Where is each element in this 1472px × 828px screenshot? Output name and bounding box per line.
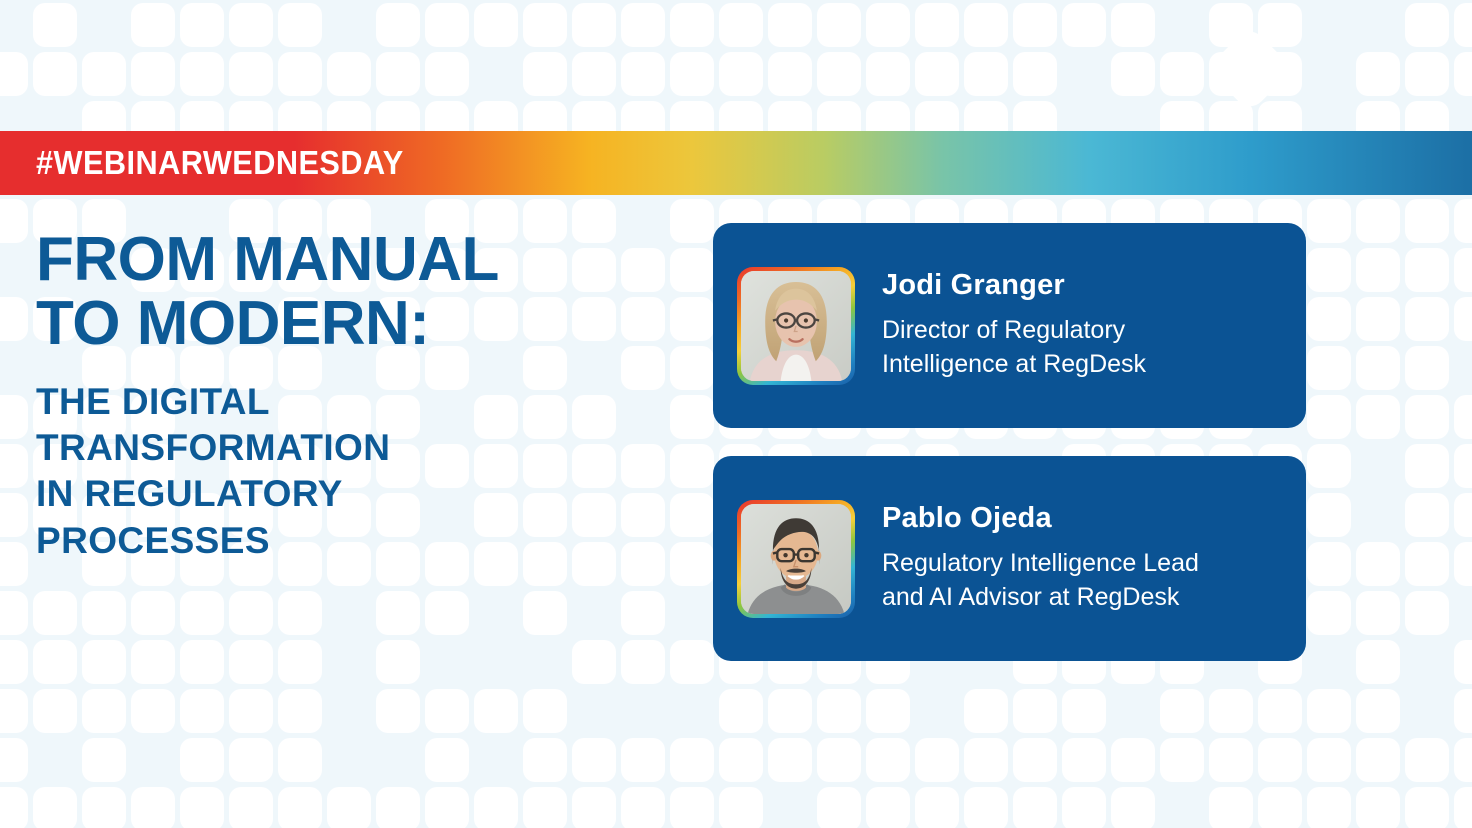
background-tile — [474, 787, 518, 828]
background-tile — [425, 591, 469, 635]
background-tile — [180, 52, 224, 96]
background-tile — [1209, 787, 1253, 828]
background-tile — [229, 689, 273, 733]
background-tile — [474, 689, 518, 733]
background-tile — [523, 3, 567, 47]
background-tile — [376, 591, 420, 635]
background-tile — [180, 787, 224, 828]
background-tile — [425, 3, 469, 47]
background-tile — [1258, 738, 1302, 782]
background-tile — [1356, 395, 1400, 439]
background-tile — [1111, 738, 1155, 782]
background-tile — [278, 3, 322, 47]
webinar-promo-graphic: #WEBINARWEDNESDAY FROM MANUAL TO MODERN:… — [0, 0, 1472, 828]
page-subtitle: THE DIGITAL TRANSFORMATION IN REGULATORY… — [36, 379, 676, 564]
portrait-jodi-granger-icon — [741, 271, 851, 381]
background-tile — [327, 787, 371, 828]
background-tile — [1405, 787, 1449, 828]
background-tile — [572, 787, 616, 828]
background-tile — [621, 787, 665, 828]
background-tile — [817, 52, 861, 96]
background-tile — [768, 52, 812, 96]
background-tile — [180, 591, 224, 635]
background-tile — [425, 52, 469, 96]
background-tile — [376, 3, 420, 47]
background-tile — [1454, 738, 1472, 782]
background-tile — [180, 640, 224, 684]
background-tile — [1062, 689, 1106, 733]
background-tile — [1356, 689, 1400, 733]
background-tile — [33, 640, 77, 684]
background-tile — [670, 199, 714, 243]
background-tile — [376, 689, 420, 733]
background-tile — [327, 52, 371, 96]
background-tile — [621, 738, 665, 782]
background-tile — [131, 52, 175, 96]
background-tile — [768, 3, 812, 47]
background-tile — [670, 493, 714, 537]
background-tile — [768, 689, 812, 733]
background-tile — [1405, 444, 1449, 488]
speaker-card: Jodi Granger Director of Regulatory Inte… — [713, 223, 1306, 428]
speaker-role-line-1: Regulatory Intelligence Lead — [882, 546, 1199, 580]
background-tile — [1356, 248, 1400, 292]
background-tile — [1405, 542, 1449, 586]
avatar-gradient-frame — [737, 267, 855, 385]
background-tile — [1111, 787, 1155, 828]
speaker-info: Pablo Ojeda Regulatory Intelligence Lead… — [882, 503, 1215, 615]
background-tile — [866, 3, 910, 47]
background-tile — [964, 787, 1008, 828]
avatar — [741, 271, 851, 381]
background-tile — [1454, 199, 1472, 243]
background-tile — [278, 738, 322, 782]
background-tile — [0, 542, 28, 586]
background-tile — [1062, 3, 1106, 47]
background-tile — [719, 738, 763, 782]
background-tile — [1307, 591, 1351, 635]
background-tile — [670, 395, 714, 439]
background-tile — [572, 52, 616, 96]
background-tile — [817, 689, 861, 733]
background-tile — [964, 3, 1008, 47]
background-tile — [1307, 199, 1351, 243]
background-tile — [0, 199, 28, 243]
background-tile — [376, 640, 420, 684]
speaker-card: Pablo Ojeda Regulatory Intelligence Lead… — [713, 456, 1306, 661]
background-tile — [1405, 395, 1449, 439]
background-tile — [1356, 640, 1400, 684]
background-tile — [33, 787, 77, 828]
background-tile — [1405, 738, 1449, 782]
background-tile — [1356, 52, 1400, 96]
background-tile — [1209, 689, 1253, 733]
background-tile — [1013, 52, 1057, 96]
background-tile — [670, 787, 714, 828]
background-tile — [1307, 738, 1351, 782]
background-tile — [1160, 738, 1204, 782]
background-tile — [278, 787, 322, 828]
hashtag-banner: #WEBINARWEDNESDAY — [0, 131, 1472, 195]
background-tile — [670, 346, 714, 390]
background-tile — [1013, 689, 1057, 733]
title-column: FROM MANUAL TO MODERN: THE DIGITAL TRANS… — [36, 228, 676, 564]
subhead-line-4: PROCESSES — [36, 518, 676, 564]
background-tile — [670, 640, 714, 684]
background-tile — [1307, 689, 1351, 733]
background-tile — [33, 52, 77, 96]
background-tile — [670, 444, 714, 488]
background-tile — [82, 689, 126, 733]
background-tile — [1209, 738, 1253, 782]
background-tile — [817, 738, 861, 782]
background-tile — [1013, 738, 1057, 782]
background-tile — [523, 591, 567, 635]
background-tile — [572, 3, 616, 47]
background-tile — [1454, 493, 1472, 537]
background-tile — [131, 689, 175, 733]
background-tile — [523, 52, 567, 96]
background-tile — [1454, 395, 1472, 439]
background-tile — [33, 689, 77, 733]
background-tile — [1307, 787, 1351, 828]
background-tile — [866, 738, 910, 782]
background-tile — [817, 787, 861, 828]
background-tile — [1405, 346, 1449, 390]
background-tile — [0, 297, 28, 341]
background-tile — [621, 591, 665, 635]
background-tile — [915, 3, 959, 47]
background-tile — [425, 738, 469, 782]
background-tile — [1454, 3, 1472, 47]
background-tile — [572, 738, 616, 782]
background-tile — [131, 591, 175, 635]
background-tile — [1307, 346, 1351, 390]
subhead-line-1: THE DIGITAL — [36, 379, 676, 425]
background-tile — [1062, 787, 1106, 828]
background-tile — [964, 738, 1008, 782]
background-tile — [1111, 3, 1155, 47]
background-tile — [425, 689, 469, 733]
background-tile — [1307, 444, 1351, 488]
speaker-name: Pablo Ojeda — [882, 503, 1199, 535]
background-tile — [1405, 493, 1449, 537]
background-tile — [719, 3, 763, 47]
background-tile — [1405, 297, 1449, 341]
background-tile — [1405, 52, 1449, 96]
subhead-line-2: TRANSFORMATION — [36, 425, 676, 471]
background-tile — [33, 3, 77, 47]
background-tile — [1405, 3, 1449, 47]
background-tile — [1111, 52, 1155, 96]
background-tile — [964, 689, 1008, 733]
background-tile — [0, 640, 28, 684]
background-tile — [82, 591, 126, 635]
background-tile — [1454, 640, 1472, 684]
background-tile — [670, 297, 714, 341]
background-tile — [866, 787, 910, 828]
background-tile — [1405, 248, 1449, 292]
background-tile — [1307, 542, 1351, 586]
background-tile — [229, 591, 273, 635]
headline-line-1: FROM MANUAL — [36, 228, 676, 292]
background-tile — [1356, 738, 1400, 782]
page-title: FROM MANUAL TO MODERN: — [36, 228, 676, 357]
background-tile — [670, 542, 714, 586]
background-tile — [180, 689, 224, 733]
background-tile — [1454, 689, 1472, 733]
background-tile — [1356, 346, 1400, 390]
background-tile — [474, 3, 518, 47]
speaker-name: Jodi Granger — [882, 270, 1146, 302]
background-tile — [0, 738, 28, 782]
background-tile — [915, 52, 959, 96]
background-tile — [1258, 787, 1302, 828]
background-tile — [1405, 591, 1449, 635]
background-tile — [719, 787, 763, 828]
background-tile — [670, 738, 714, 782]
background-tile — [1307, 395, 1351, 439]
background-tile — [229, 738, 273, 782]
background-tile — [1307, 297, 1351, 341]
background-tile — [376, 787, 420, 828]
background-tile — [1258, 689, 1302, 733]
background-tile — [1405, 199, 1449, 243]
background-tile — [1454, 787, 1472, 828]
background-tile — [572, 640, 616, 684]
background-tile — [670, 248, 714, 292]
background-tile — [131, 3, 175, 47]
background-tile — [0, 493, 28, 537]
background-tile — [1356, 591, 1400, 635]
speaker-role-line-2: Intelligence at RegDesk — [882, 347, 1146, 381]
background-tile — [523, 689, 567, 733]
hashtag-banner-label: #WEBINARWEDNESDAY — [36, 144, 404, 182]
background-tile — [1013, 787, 1057, 828]
speaker-role-line-1: Director of Regulatory — [882, 313, 1146, 347]
background-tile — [229, 52, 273, 96]
background-tile — [1454, 297, 1472, 341]
background-tile — [0, 444, 28, 488]
background-tile — [131, 640, 175, 684]
background-tile — [523, 787, 567, 828]
avatar-gradient-frame — [737, 500, 855, 618]
background-tile — [278, 689, 322, 733]
background-tile — [0, 395, 28, 439]
background-tile — [278, 640, 322, 684]
background-tile — [1013, 3, 1057, 47]
background-tile — [1454, 444, 1472, 488]
background-tile — [1356, 542, 1400, 586]
speaker-info: Jodi Granger Director of Regulatory Inte… — [882, 270, 1162, 382]
background-tile — [82, 52, 126, 96]
background-tile — [523, 738, 567, 782]
background-tile — [1307, 248, 1351, 292]
speaker-role-line-2: and AI Advisor at RegDesk — [882, 580, 1199, 614]
background-tile — [33, 591, 77, 635]
background-tile — [1454, 248, 1472, 292]
background-tile — [82, 787, 126, 828]
background-tile — [621, 640, 665, 684]
background-tile — [82, 640, 126, 684]
background-tile — [915, 738, 959, 782]
background-tile — [0, 52, 28, 96]
background-tile — [621, 3, 665, 47]
subhead-line-3: IN REGULATORY — [36, 471, 676, 517]
background-tile — [0, 787, 28, 828]
background-tile — [425, 787, 469, 828]
background-tile — [1356, 787, 1400, 828]
avatar — [741, 504, 851, 614]
background-tile — [1307, 493, 1351, 537]
background-tile — [180, 3, 224, 47]
speaker-role: Regulatory Intelligence Lead and AI Advi… — [882, 546, 1199, 614]
background-tile — [229, 640, 273, 684]
background-tile — [719, 52, 763, 96]
background-tile — [0, 591, 28, 635]
headline-line-2: TO MODERN: — [36, 292, 676, 356]
background-tile — [964, 52, 1008, 96]
background-tile — [376, 52, 420, 96]
background-tile — [229, 787, 273, 828]
background-tile — [866, 52, 910, 96]
background-tile — [1160, 52, 1204, 96]
background-tile — [278, 591, 322, 635]
background-tile — [1356, 199, 1400, 243]
speaker-role: Director of Regulatory Intelligence at R… — [882, 313, 1146, 381]
background-tile — [1160, 689, 1204, 733]
background-tile — [866, 689, 910, 733]
background-tile — [1062, 738, 1106, 782]
background-tile — [1454, 542, 1472, 586]
background-tile — [278, 52, 322, 96]
background-tile — [131, 787, 175, 828]
background-tile — [180, 738, 224, 782]
background-tile — [915, 787, 959, 828]
background-tile — [768, 738, 812, 782]
background-tile — [0, 689, 28, 733]
background-tile — [621, 52, 665, 96]
background-tile — [1356, 297, 1400, 341]
background-tile — [817, 3, 861, 47]
background-tile — [719, 689, 763, 733]
background-tile — [229, 3, 273, 47]
background-tile — [82, 738, 126, 782]
portrait-pablo-ojeda-icon — [741, 504, 851, 614]
background-tile — [670, 52, 714, 96]
background-tile — [1454, 52, 1472, 96]
background-tile — [670, 3, 714, 47]
